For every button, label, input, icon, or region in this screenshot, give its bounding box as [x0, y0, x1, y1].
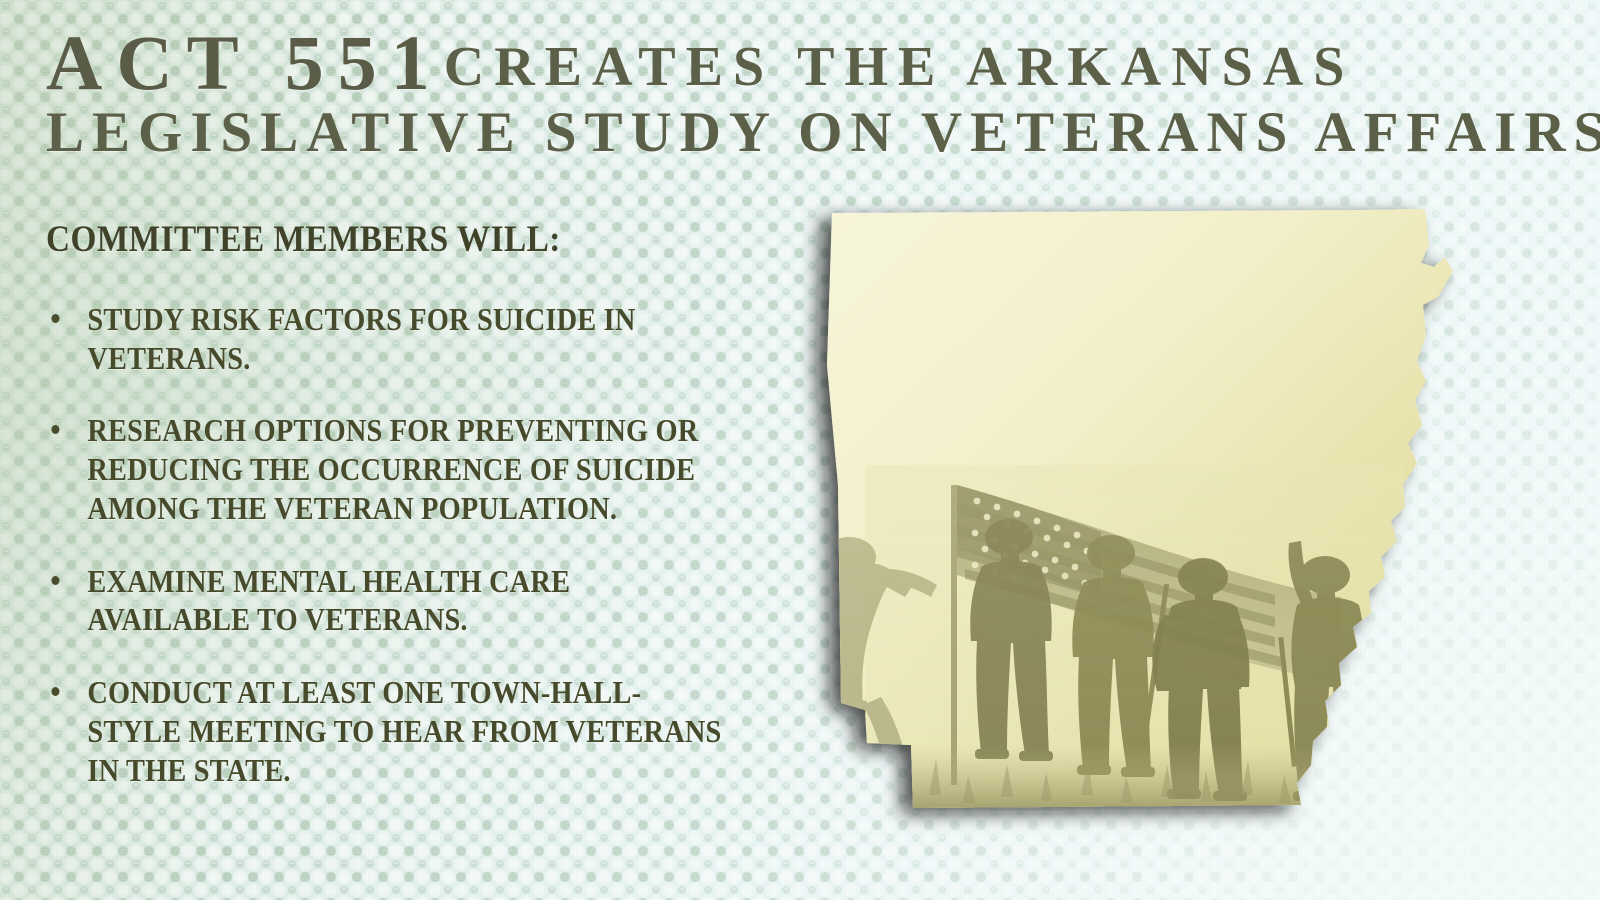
list-item-label: EXAMINE MENTAL HEALTH CARE AVAILABLE TO …: [87, 564, 570, 638]
list-item: CONDUCT AT LEAST ONE TOWN-HALL-STYLE MEE…: [46, 674, 730, 790]
arkansas-state-outline-icon: [805, 185, 1485, 835]
list-item-label: STUDY RISK FACTORS FOR SUICIDE IN VETERA…: [87, 302, 635, 376]
headline-line-1: ACT 551CREATES THE ARKANSAS: [46, 24, 1566, 101]
list-item-label: RESEARCH OPTIONS FOR PREVENTING OR REDUC…: [87, 413, 698, 525]
bullet-dot-icon: [51, 576, 59, 585]
body-copy-block: COMMITTEE MEMBERS WILL: STUDY RISK FACTO…: [46, 218, 730, 790]
committee-duties-list: STUDY RISK FACTORS FOR SUICIDE IN VETERA…: [46, 301, 730, 790]
committee-intro-label: COMMITTEE MEMBERS WILL:: [46, 218, 730, 261]
list-item-label: CONDUCT AT LEAST ONE TOWN-HALL-STYLE MEE…: [87, 675, 721, 787]
poster-canvas: ACT 551CREATES THE ARKANSAS LEGISLATIVE …: [0, 0, 1600, 900]
list-item: EXAMINE MENTAL HEALTH CARE AVAILABLE TO …: [46, 563, 730, 640]
bullet-dot-icon: [51, 687, 59, 696]
act-number-label: ACT 551: [46, 19, 444, 106]
bullet-dot-icon: [51, 314, 59, 323]
arkansas-state-graphic: [805, 185, 1485, 835]
bullet-dot-icon: [51, 425, 59, 434]
list-item: STUDY RISK FACTORS FOR SUICIDE IN VETERA…: [46, 301, 730, 378]
veterans-photo-overlay: [817, 465, 1425, 815]
page-title: ACT 551CREATES THE ARKANSAS LEGISLATIVE …: [46, 24, 1566, 162]
headline-line-1-rest: CREATES THE ARKANSAS: [444, 36, 1355, 98]
headline-line-2: LEGISLATIVE STUDY ON VETERANS AFFAIRS.: [46, 105, 1566, 161]
list-item: RESEARCH OPTIONS FOR PREVENTING OR REDUC…: [46, 412, 730, 528]
ground-grass: [825, 745, 1425, 815]
